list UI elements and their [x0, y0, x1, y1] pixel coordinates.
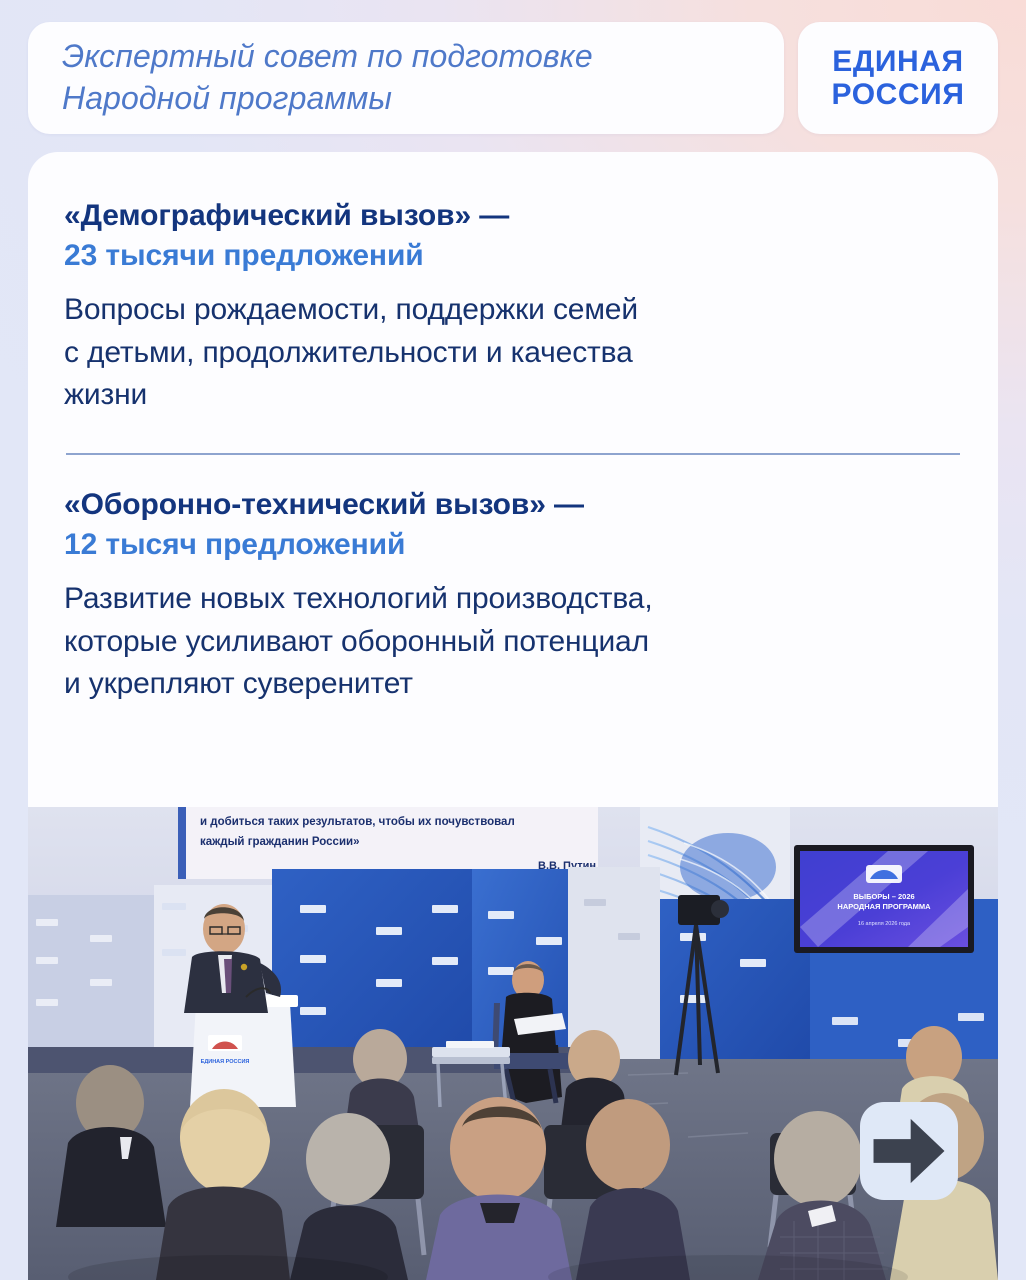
section-divider	[66, 453, 960, 455]
photo-illustration: и добиться таких результатов, чтобы их п…	[28, 807, 998, 1280]
logo-line-2: РОССИЯ	[831, 78, 964, 111]
block-heading: «Демографический вызов» — 23 тысячи пред…	[64, 196, 962, 275]
screen-quote-line1: и добиться таких результатов, чтобы их п…	[200, 816, 515, 828]
card-body: «Демографический вызов» — 23 тысячи пред…	[28, 152, 998, 706]
event-photo: и добиться таких результатов, чтобы их п…	[28, 807, 998, 1280]
block-heading-count: 23 тысячи предложений	[64, 236, 962, 276]
logo-line-1: ЕДИНАЯ	[832, 45, 963, 78]
tv-line-3: 16 апреля 2026 года	[858, 921, 911, 927]
challenge-block-defense: «Оборонно-технический вызов» — 12 тысяч …	[64, 485, 962, 706]
block-description: Вопросы рождаемости, поддержки семей с д…	[64, 289, 962, 417]
arrow-right-icon	[860, 1102, 958, 1200]
block-heading-title: «Демографический вызов» —	[64, 196, 962, 236]
page-title: Экспертный совет по подготовке Народной …	[62, 36, 593, 119]
screen-quote-line2: каждый гражданин России»	[200, 836, 360, 848]
title-card: Экспертный совет по подготовке Народной …	[28, 22, 784, 134]
tv-line-2: НАРОДНАЯ ПРОГРАММА	[837, 902, 931, 911]
block-heading-title: «Оборонно-технический вызов» —	[64, 485, 962, 525]
block-heading-count: 12 тысяч предложений	[64, 525, 962, 565]
podium-logo-text: ЕДИНАЯ РОССИЯ	[201, 1059, 250, 1065]
tv-line-1: ВЫБОРЫ – 2026	[853, 892, 914, 901]
next-slide-button[interactable]	[860, 1102, 958, 1200]
content-card: «Демографический вызов» — 23 тысячи пред…	[28, 152, 998, 1280]
challenge-block-demographic: «Демографический вызов» — 23 тысячи пред…	[64, 196, 962, 417]
header: Экспертный совет по подготовке Народной …	[28, 22, 998, 134]
tv-screen: ВЫБОРЫ – 2026 НАРОДНАЯ ПРОГРАММА 16 апре…	[794, 845, 974, 953]
slide-page: Экспертный совет по подготовке Народной …	[0, 0, 1026, 1280]
brand-logo: ЕДИНАЯ РОССИЯ	[798, 22, 998, 134]
block-description: Развитие новых технологий производства, …	[64, 578, 962, 706]
block-heading: «Оборонно-технический вызов» — 12 тысяч …	[64, 485, 962, 564]
